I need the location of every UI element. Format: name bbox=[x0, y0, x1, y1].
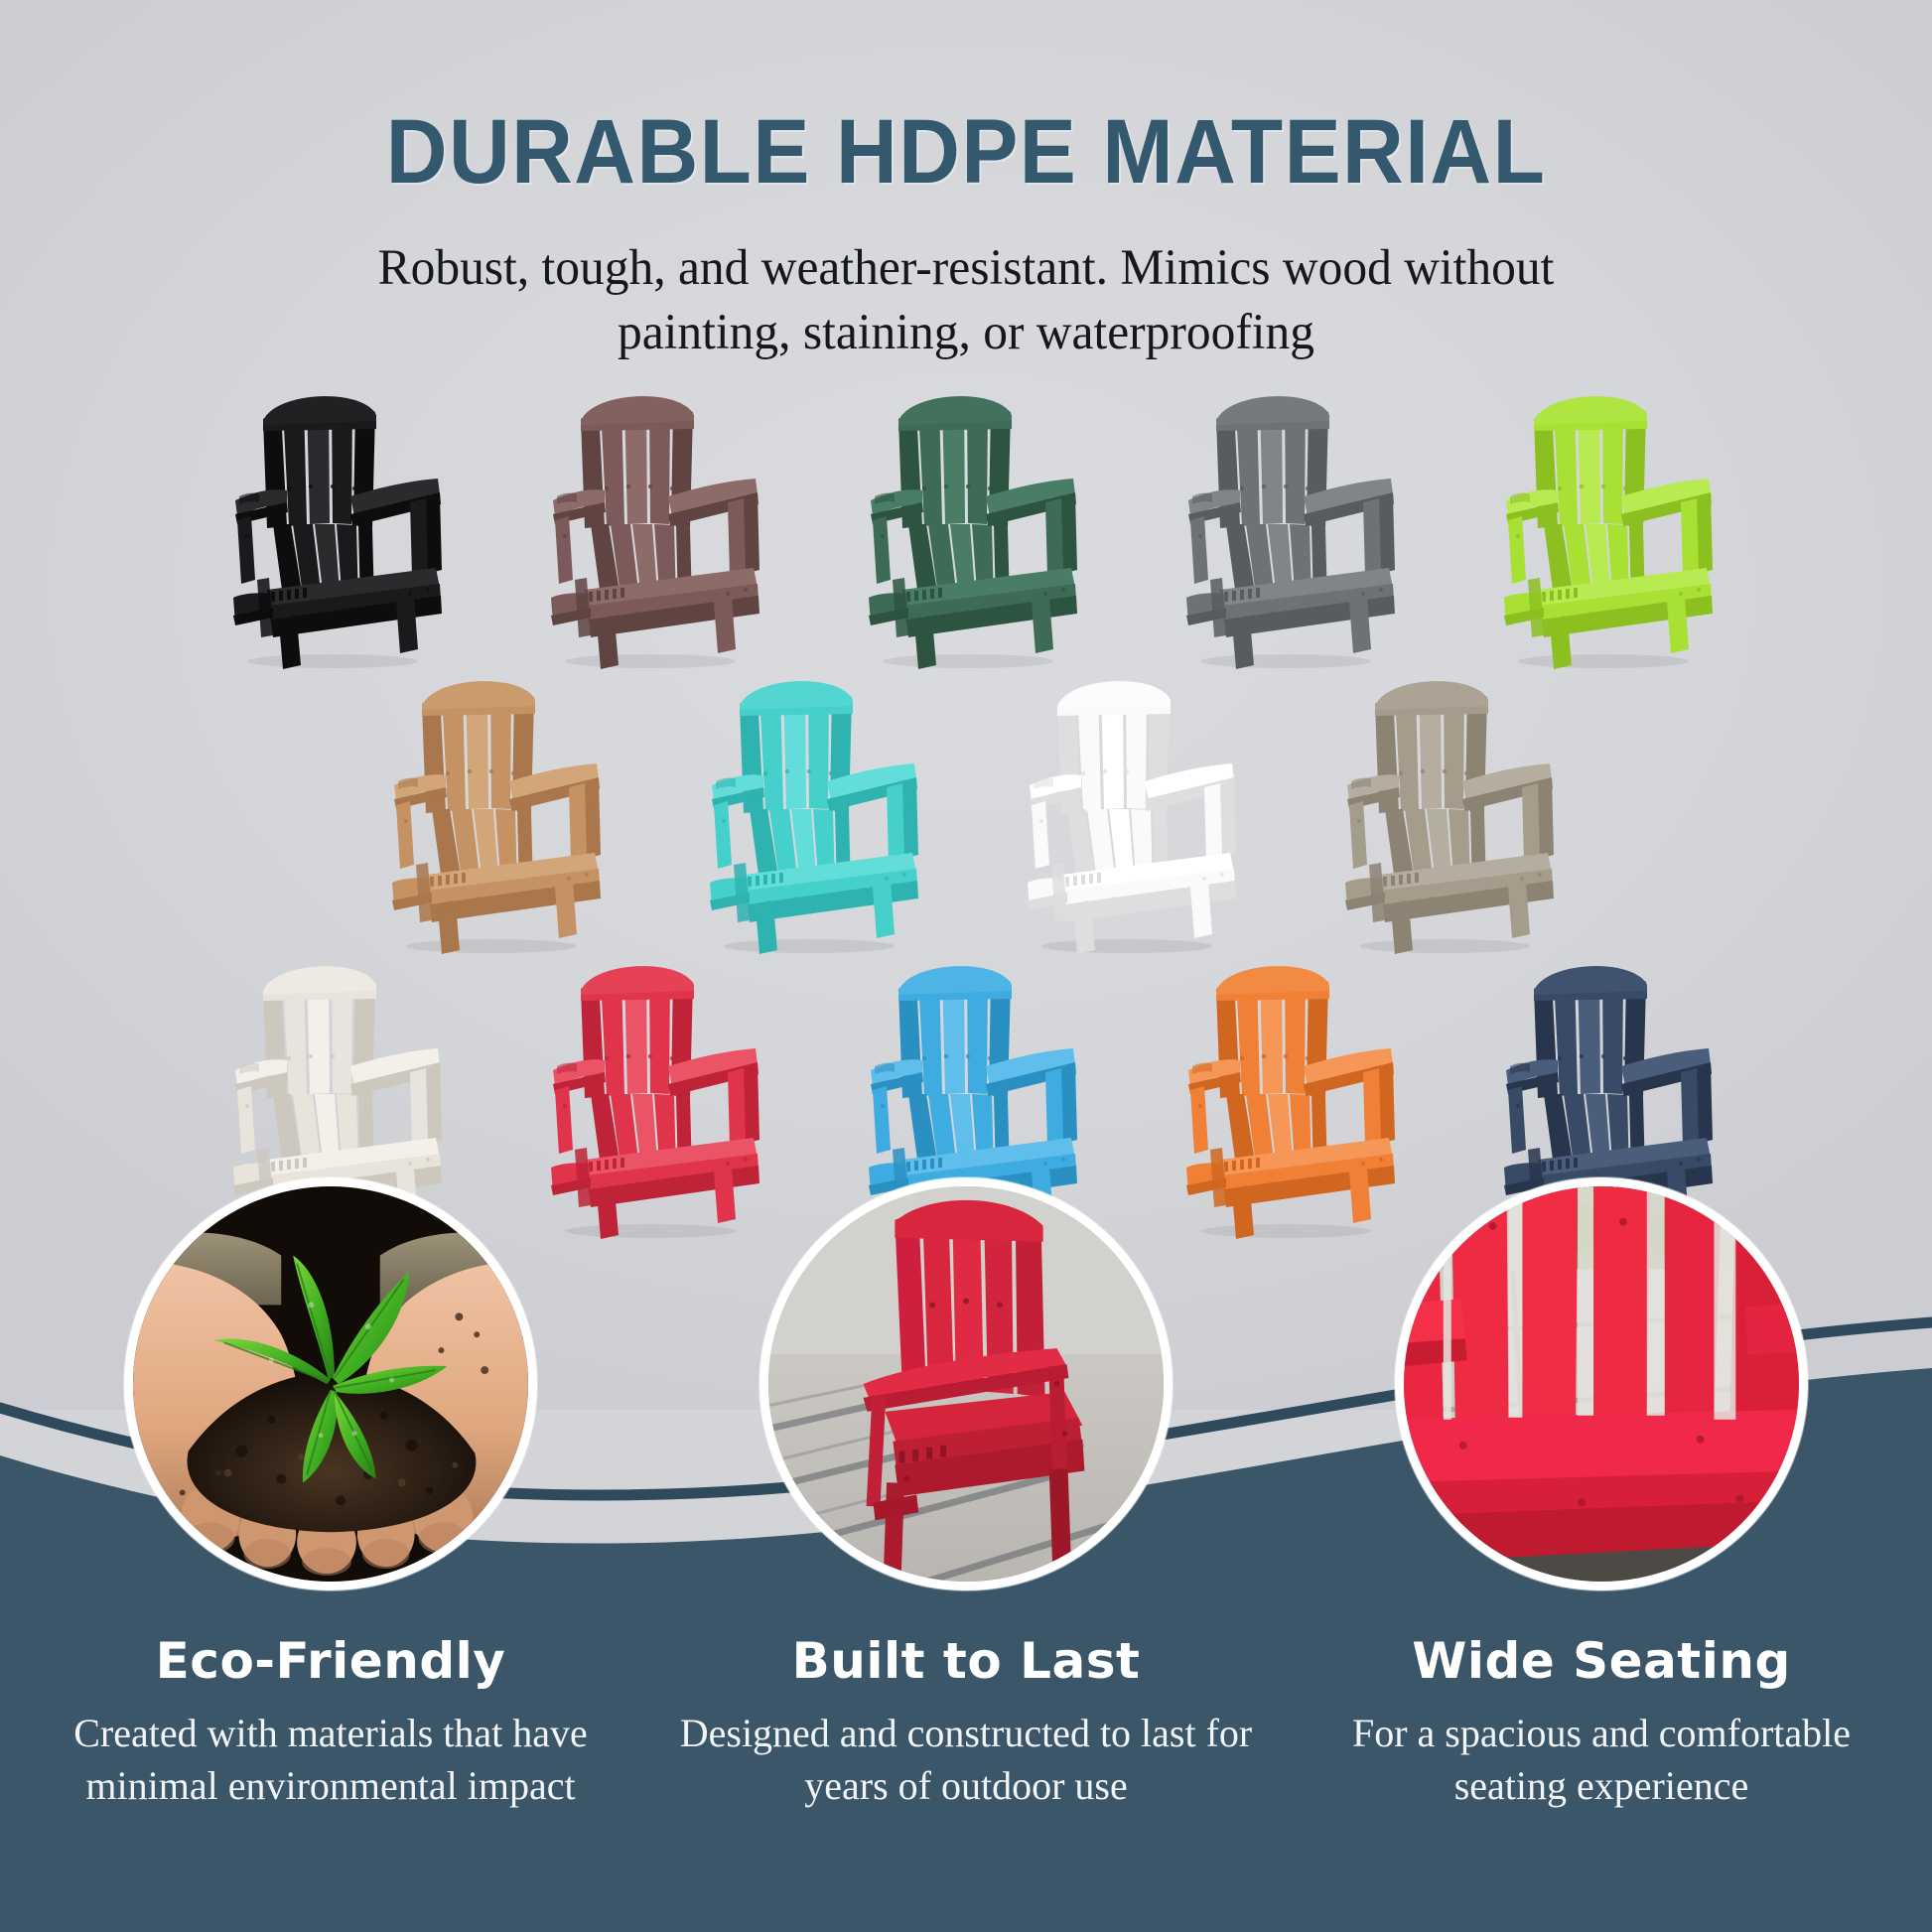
chair-row-2 bbox=[0, 660, 1932, 950]
header: DURABLE HDPE MATERIAL Robust, tough, and… bbox=[0, 0, 1932, 365]
adirondack-chair-illustration bbox=[837, 375, 1095, 673]
adirondack-chair-illustration bbox=[678, 660, 936, 958]
feature-photo-wide-seating bbox=[1395, 1177, 1808, 1590]
chair-image-wrapper bbox=[678, 660, 936, 963]
adirondack-chair-illustration bbox=[202, 375, 460, 673]
page-subtitle: Robust, tough, and weather-resistant. Mi… bbox=[29, 236, 1903, 366]
chair-swatch-turquoise[interactable] bbox=[648, 660, 966, 950]
feature-title-built-to-last: Built to Last bbox=[792, 1632, 1141, 1690]
feature-description-wide-seating: For a spacious and comfortable seating e… bbox=[1304, 1708, 1899, 1813]
feature-title-wide-seating: Wide Seating bbox=[1412, 1632, 1791, 1690]
page-title: DURABLE HDPE MATERIAL bbox=[68, 104, 1864, 201]
chair-image-wrapper bbox=[202, 375, 460, 678]
adirondack-chair-illustration bbox=[1313, 660, 1572, 958]
red-chair-on-patio-image bbox=[768, 1186, 1164, 1582]
feature-description-built-to-last: Designed and constructed to last for yea… bbox=[668, 1708, 1264, 1813]
chair-swatch-cedar[interactable] bbox=[331, 660, 648, 950]
chair-swatch-lime-green[interactable] bbox=[1443, 375, 1760, 665]
chair-image-wrapper bbox=[360, 660, 619, 963]
feature-built-to-last: Built to Last Designed and constructed t… bbox=[648, 1177, 1284, 1813]
chair-row-1 bbox=[0, 375, 1932, 665]
feature-eco-friendly: Eco-Friendly Created with materials that… bbox=[13, 1177, 648, 1813]
chair-swatch-white[interactable] bbox=[966, 660, 1284, 950]
adirondack-chair-illustration bbox=[360, 660, 619, 958]
chair-image-wrapper bbox=[1472, 375, 1730, 678]
adirondack-chair-illustration bbox=[996, 660, 1254, 958]
chair-image-wrapper bbox=[519, 375, 777, 678]
subtitle-line-2: painting, staining, or waterproofing bbox=[29, 301, 1903, 365]
chair-swatch-weathered-wood[interactable] bbox=[1284, 660, 1601, 950]
subtitle-line-1: Robust, tough, and weather-resistant. Mi… bbox=[29, 236, 1903, 301]
adirondack-chair-illustration bbox=[519, 375, 777, 673]
adirondack-chair-illustration bbox=[1472, 375, 1730, 673]
feature-wide-seating: Wide Seating For a spacious and comforta… bbox=[1284, 1177, 1919, 1813]
adirondack-chair-illustration bbox=[1155, 375, 1413, 673]
features-section: Eco-Friendly Created with materials that… bbox=[0, 1177, 1932, 1932]
chair-image-wrapper bbox=[1313, 660, 1572, 963]
chair-swatch-dark-green[interactable] bbox=[807, 375, 1125, 665]
red-chair-wide-seat-closeup-image bbox=[1404, 1186, 1799, 1582]
chair-swatch-gray[interactable] bbox=[1125, 375, 1443, 665]
feature-photo-eco-friendly bbox=[124, 1177, 537, 1590]
hands-soil-seedling-image bbox=[133, 1186, 528, 1582]
chair-swatch-black[interactable] bbox=[172, 375, 489, 665]
feature-photo-built-to-last bbox=[759, 1177, 1173, 1590]
chair-swatch-brown[interactable] bbox=[489, 375, 807, 665]
feature-description-eco-friendly: Created with materials that have minimal… bbox=[33, 1708, 628, 1813]
chair-image-wrapper bbox=[996, 660, 1254, 963]
chair-image-wrapper bbox=[837, 375, 1095, 678]
chair-image-wrapper bbox=[1155, 375, 1413, 678]
feature-title-eco-friendly: Eco-Friendly bbox=[156, 1632, 506, 1690]
